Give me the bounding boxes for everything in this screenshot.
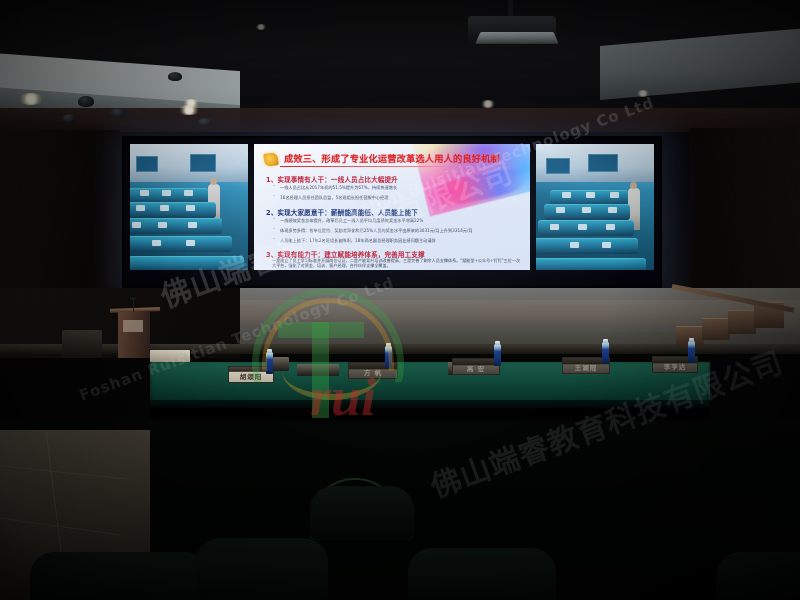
water-bottle-3-cap: [495, 341, 500, 345]
podium-microphone: [130, 297, 136, 300]
feed-left-headrest-4: [136, 205, 145, 211]
feed-left-headrest-3: [184, 190, 193, 196]
slide-section-1-bullet-2: 16名经理人员担任团队总监，5名班组长担任营服中心经理: [280, 195, 524, 200]
slide-section-2-bullet-2: 体现多劳多得：各单位是拉、奖励差异化和后25%人员的奖金水平由原来的3031元/…: [280, 228, 524, 233]
feed-left-headrest-2: [162, 190, 171, 196]
slide-section-2-bullet-3: 人员能上能下：17年2名班组长被降职，18年两名副总经理职务因业绩问题主动请辞: [280, 238, 524, 243]
ceiling-speaker-2: [110, 108, 126, 118]
ceiling-speaker-4: [168, 72, 182, 81]
ceiling-speaker-1: [78, 96, 94, 107]
downlight-1: [18, 93, 44, 105]
water-bottle-5-cap: [689, 338, 694, 342]
slide-title: 成效三、形成了专业化运营改革选人用人的良好机制: [284, 152, 524, 167]
feed-left-headrest-11: [186, 240, 195, 246]
nameplate-5-text: 李亨达: [664, 362, 687, 372]
nameplate-4-text: 王湖冠: [575, 363, 598, 373]
led-video-wall: 成效三、形成了专业化运营改革选人用人的良好机制 1、实现事情有人干：一线人员占比…: [122, 136, 662, 288]
nameplate-3-text: 高 宏: [467, 364, 485, 374]
feed-right-headrest-1: [562, 192, 571, 198]
audience-chair-3: [408, 548, 556, 600]
camera-feed-right: [536, 144, 654, 270]
stair-step-3: [728, 310, 756, 334]
slide-section-1-bullet-1: 一线人员占比从2017年初的51.5%提升为67%，持续快速增长: [280, 185, 524, 190]
presentation-slide: 成效三、形成了专业化运营改革选人用人的良好机制 1、实现事情有人干：一线人员占比…: [254, 144, 530, 270]
podium-microphone-stem: [133, 300, 134, 312]
feed-left-headrest-7: [132, 222, 141, 228]
feed-left-monitor: [136, 156, 158, 172]
speaker-podium: [118, 312, 150, 358]
feed-right-headrest-2: [586, 192, 595, 198]
stage-equipment-box: [62, 330, 102, 358]
ceiling-speaker-3: [62, 114, 76, 123]
downlight-3: [182, 99, 200, 107]
audience-chair-1: [30, 552, 210, 600]
water-bottle-2: [385, 346, 392, 368]
slide-section-2-heading: 2、实现大家愿意干：薪酬能高能低、人员能上能下: [266, 207, 522, 217]
feed-right-seat-row-4: [536, 238, 638, 254]
nameplate-1-text: 胡颂阳: [240, 372, 263, 382]
feed-left-headrest-10: [152, 240, 161, 246]
feed-left-monitor-2: [190, 154, 216, 172]
nameplate-2-text: 方 帆: [364, 368, 382, 378]
feed-left-seat-row-3: [130, 218, 222, 234]
audience-chair-2: [196, 538, 328, 600]
water-bottle-4: [602, 342, 609, 364]
camera-feed-left: [130, 144, 248, 270]
water-bottle-4-cap: [603, 339, 608, 343]
slide-title-underline: [280, 166, 480, 167]
feed-right-headrest-8: [578, 224, 587, 230]
water-bottle-1-cap: [267, 349, 272, 353]
feed-right-monitor: [546, 158, 570, 174]
feed-right-headrest-4: [556, 207, 565, 213]
water-bottle-1: [266, 352, 273, 374]
downlight-6: [636, 90, 650, 97]
projector-plate: [475, 32, 559, 44]
nameplate-3: 高 宏: [452, 358, 500, 375]
feed-left-headrest-8: [158, 222, 167, 228]
feed-right-headrest-10: [570, 242, 579, 248]
head-table-shadow: [150, 400, 710, 422]
feed-right-headrest-3: [610, 192, 619, 198]
feed-left-headrest-6: [186, 205, 195, 211]
feed-left-seat-row-5: [130, 256, 244, 270]
podium-papers: [123, 320, 143, 332]
feed-right-headrest-5: [582, 207, 591, 213]
water-bottle-5: [688, 341, 695, 363]
feed-left-seat-row-4: [130, 236, 232, 252]
feed-right-headrest-9: [606, 224, 615, 230]
feed-right-person-head: [630, 182, 637, 189]
stage-floor-box: [150, 350, 190, 362]
feed-left-person-head: [210, 178, 217, 185]
downlight-4: [255, 24, 267, 30]
audience-chair-4: [716, 552, 800, 600]
feed-right-monitor-2: [588, 154, 618, 172]
party-emblem-icon: [263, 152, 279, 167]
slide-section-3-paragraph: 一是建立了员工学习标准并开展岗位认证，二是产能背升培训改善提高，三是完善了剩余人…: [272, 258, 524, 269]
slide-section-1-heading: 1、实现事情有人干：一线人员占比大幅提升: [266, 174, 522, 184]
conference-hall-photo: 成效三、形成了专业化运营改革选人用人的良好机制 1、实现事情有人干：一线人员占比…: [0, 0, 800, 600]
water-bottle-3: [494, 344, 501, 366]
downlight-5: [480, 100, 496, 108]
audience-chair-5: [310, 486, 414, 540]
feed-right-headrest-11: [602, 242, 611, 248]
feed-right-headrest-6: [608, 207, 617, 213]
feed-left-headrest-5: [160, 205, 169, 211]
stair-step-2: [702, 318, 730, 340]
feed-left-headrest-1: [140, 190, 149, 196]
feed-left-headrest-9: [188, 222, 197, 228]
feed-right-headrest-7: [550, 224, 559, 230]
table-dark-box: [273, 357, 289, 371]
feed-right-seat-row-5: [536, 258, 646, 270]
table-tissue-box: [297, 364, 339, 376]
water-bottle-2-cap: [386, 343, 391, 347]
ceiling-speaker-5: [198, 118, 212, 126]
slide-section-2-bullet-1: 一线绩效奖金总体提升，改革后员工一线人员平均月度绩效奖金水平增高22%: [280, 218, 524, 223]
